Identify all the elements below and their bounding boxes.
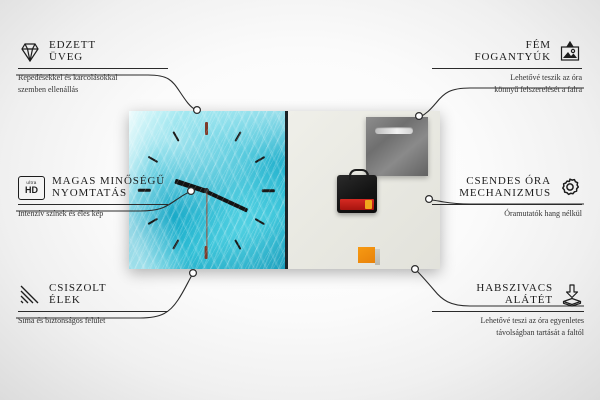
feature-desc-line2: távolságban tartását a faltól xyxy=(432,327,584,339)
hour-tick xyxy=(205,122,208,135)
feature-desc-line1: Óramutatók hang nélkül xyxy=(432,208,582,220)
foam-pad xyxy=(358,247,375,263)
polished-edge-icon xyxy=(18,283,42,307)
feature-polished-edges[interactable]: CSISZOLT ÉLEK Sima és biztonságos felüle… xyxy=(18,283,168,327)
clock-hub xyxy=(204,188,209,193)
ultra-hd-icon-main: HD xyxy=(25,186,38,195)
divider xyxy=(18,204,168,205)
divider xyxy=(18,68,168,69)
hour-tick xyxy=(255,218,265,225)
feature-desc-line1: Intenzív színek és éles kép xyxy=(18,208,168,220)
picture-hanger-icon xyxy=(558,40,582,64)
feature-title-line2: ALÁTÉT xyxy=(476,295,553,307)
feature-metal-handles[interactable]: FÉM FOGANTYÚK Lehetővé teszik az óra kön… xyxy=(432,40,582,95)
feature-title-line2: NYOMTATÁS xyxy=(52,188,165,200)
infographic-canvas: EDZETT ÜVEG Repedésekkel és karcolásokka… xyxy=(0,0,600,400)
feature-desc-line1: Sima és biztonságos felület xyxy=(18,315,168,327)
mechanism-loop xyxy=(349,169,369,180)
hour-tick xyxy=(262,189,275,192)
feature-title-line2: MECHANIZMUS xyxy=(459,188,551,200)
hanger-slot xyxy=(375,127,413,134)
feature-desc-line2: szemben ellenállás xyxy=(18,84,168,96)
hour-tick xyxy=(172,132,179,142)
hour-tick xyxy=(234,239,241,249)
hour-tick xyxy=(172,239,179,249)
ultra-hd-icon: ultra HD xyxy=(18,176,45,200)
foam-pad-arrow-icon xyxy=(560,283,584,307)
divider xyxy=(18,311,168,312)
feature-desc-line1: Lehetővé teszik az óra xyxy=(432,72,582,84)
divider xyxy=(432,68,582,69)
hour-hand xyxy=(174,179,206,194)
feature-foam-pad[interactable]: HABSZIVACS ALÁTÉT Lehetővé teszi az óra … xyxy=(432,283,584,338)
feature-title-line2: ÜVEG xyxy=(49,52,96,64)
product-photo xyxy=(129,111,440,269)
feature-title-line2: FOGANTYÚK xyxy=(474,52,551,64)
feature-tempered-glass[interactable]: EDZETT ÜVEG Repedésekkel és karcolásokka… xyxy=(18,40,168,95)
feature-desc-line1: Lehetővé teszi az óra egyenletes xyxy=(432,315,584,327)
feature-high-quality-print[interactable]: ultra HD MAGAS MINŐSÉGŰ NYOMTATÁS Intenz… xyxy=(18,176,168,220)
clock-back-panel xyxy=(288,111,440,269)
feature-silent-mechanism[interactable]: CSENDES ÓRA MECHANIZMUS Óramutatók hang … xyxy=(432,176,582,220)
second-hand xyxy=(206,191,207,249)
feature-desc-line2: könnyű felszerelését a falra xyxy=(432,84,582,96)
clock-mechanism xyxy=(337,175,377,213)
feature-title-line2: ÉLEK xyxy=(49,295,107,307)
hour-tick xyxy=(205,246,208,259)
feature-desc-line1: Repedésekkel és karcolásokkal xyxy=(18,72,168,84)
divider xyxy=(432,204,582,205)
minute-hand xyxy=(205,189,248,212)
gear-icon xyxy=(558,176,582,200)
hour-tick xyxy=(234,132,241,142)
diamond-icon xyxy=(18,40,42,64)
hour-tick xyxy=(255,156,265,163)
battery xyxy=(340,199,374,210)
divider xyxy=(432,311,584,312)
metal-hanger-plate xyxy=(366,117,428,176)
hour-tick xyxy=(148,156,158,163)
